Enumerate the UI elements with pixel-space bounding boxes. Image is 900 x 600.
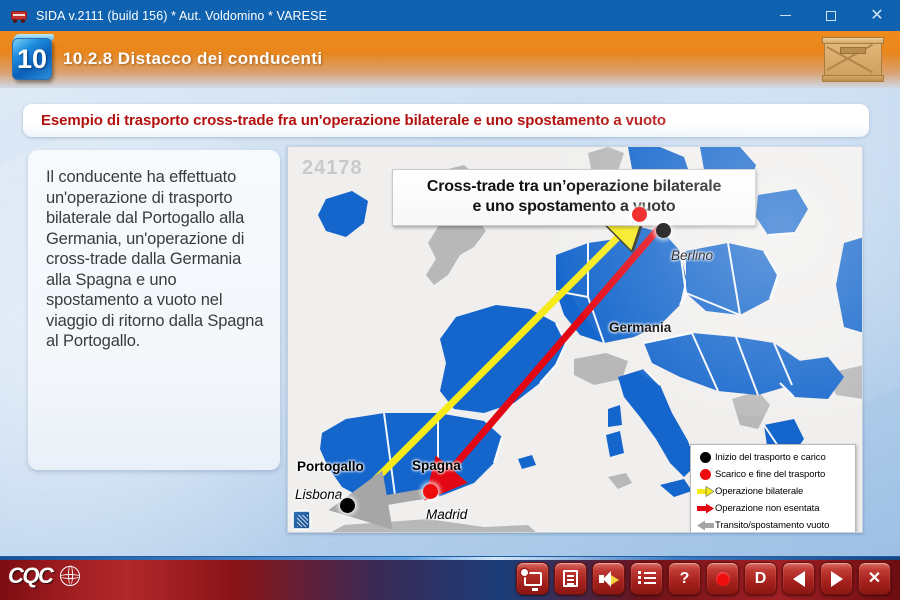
map-callout-line1: Cross-trade tra un’operazione bilaterale <box>399 177 749 197</box>
maximize-icon <box>826 11 836 21</box>
europe-map: 24178 Cross-trade tra un’operazione bila… <box>287 146 863 533</box>
content-area: Esempio di trasporto cross-trade fra un'… <box>0 88 900 556</box>
speaker-icon <box>599 571 619 587</box>
legend-label: Operazione bilaterale <box>715 486 803 497</box>
subtitle-bar: Esempio di trasporto cross-trade fra un'… <box>23 104 869 137</box>
application-window: SIDA v.2111 (build 156) * Aut. Voldomino… <box>0 0 900 600</box>
legend-item: Operazione bilaterale <box>695 483 850 499</box>
list-icon <box>638 572 656 586</box>
chapter-badge: 10 <box>9 34 55 84</box>
legend-label: Inizio del trasporto e carico <box>715 452 826 463</box>
previous-button[interactable] <box>782 562 815 595</box>
yellow-arrow-icon <box>695 486 715 497</box>
map-emblem-icon <box>293 511 310 529</box>
dictionary-button[interactable]: D <box>744 562 777 595</box>
title-bar: SIDA v.2111 (build 156) * Aut. Voldomino… <box>0 0 900 31</box>
window-title: SIDA v.2111 (build 156) * Aut. Voldomino… <box>36 9 327 23</box>
index-button[interactable] <box>630 562 663 595</box>
page-title: 10.2.8 Distacco dei conducenti <box>63 49 323 69</box>
minimize-button[interactable] <box>762 0 808 31</box>
help-button[interactable]: ? <box>668 562 701 595</box>
legend-label: Scarico e fine del trasporto <box>715 469 825 480</box>
legend-label: Operazione non esentata <box>715 503 819 514</box>
legend-item: Scarico e fine del trasporto <box>695 466 850 482</box>
chapter-badge-number: 10 <box>12 38 52 80</box>
globe-icon <box>60 566 80 586</box>
presentation-button[interactable] <box>516 562 549 595</box>
map-callout: Cross-trade tra un’operazione bilaterale… <box>392 169 756 226</box>
toolbar-buttons: ? D ✕ <box>516 562 891 595</box>
map-label-portogallo: Portogallo <box>297 459 364 474</box>
document-icon <box>563 570 578 587</box>
minimize-icon <box>780 15 791 16</box>
audio-button[interactable] <box>592 562 625 595</box>
marker-lisbon-start <box>340 498 355 513</box>
map-watermark: 24178 <box>302 157 363 180</box>
legend-item: Transito/spostamento vuoto <box>695 517 850 533</box>
arrow-left-icon <box>793 571 805 587</box>
subtitle-text: Esempio di trasporto cross-trade fra un'… <box>41 112 666 129</box>
wooden-crate-icon <box>824 37 882 82</box>
map-label-germania: Germania <box>609 320 671 335</box>
map-legend: Inizio del trasporto e carico Scarico e … <box>690 444 856 533</box>
maximize-button[interactable] <box>808 0 854 31</box>
letter-d-icon: D <box>755 571 767 587</box>
cqc-logo: CQC <box>8 563 80 589</box>
red-arrow-icon <box>695 503 715 514</box>
marker-madrid-unload <box>423 484 438 499</box>
section-header: 10 10.2.8 Distacco dei conducenti <box>0 31 900 88</box>
description-text: Il conducente ha effettuato un'operazion… <box>46 167 266 352</box>
question-icon: ? <box>680 571 690 587</box>
map-label-madrid: Madrid <box>426 507 467 522</box>
cqc-logo-text: CQC <box>8 563 52 589</box>
red-circle-icon <box>716 572 730 586</box>
monitor-icon <box>524 572 542 586</box>
bottom-toolbar: CQC ? <box>0 556 900 600</box>
record-button[interactable] <box>706 562 739 595</box>
arrow-right-icon <box>831 571 843 587</box>
map-label-lisbona: Lisbona <box>295 487 342 502</box>
red-dot-icon <box>695 469 715 480</box>
legend-item: Operazione non esentata <box>695 500 850 516</box>
truck-icon <box>11 9 27 22</box>
description-panel: Il conducente ha effettuato un'operazion… <box>28 150 280 470</box>
legend-label: Transito/spostamento vuoto <box>715 520 829 531</box>
next-button[interactable] <box>820 562 853 595</box>
map-label-berlino: Berlino <box>671 248 713 263</box>
map-callout-line2: e uno spostamento a vuoto <box>399 197 749 217</box>
gray-arrow-icon <box>695 520 715 531</box>
document-button[interactable] <box>554 562 587 595</box>
black-dot-icon <box>695 452 715 463</box>
close-icon: ✕ <box>870 8 883 24</box>
marker-berlin-start <box>656 223 671 238</box>
x-icon: ✕ <box>868 571 881 587</box>
window-close-button[interactable]: ✕ <box>854 0 900 31</box>
exit-button[interactable]: ✕ <box>858 562 891 595</box>
marker-berlin-unload <box>632 207 647 222</box>
map-label-spagna: Spagna <box>412 458 461 473</box>
legend-item: Inizio del trasporto e carico <box>695 449 850 465</box>
